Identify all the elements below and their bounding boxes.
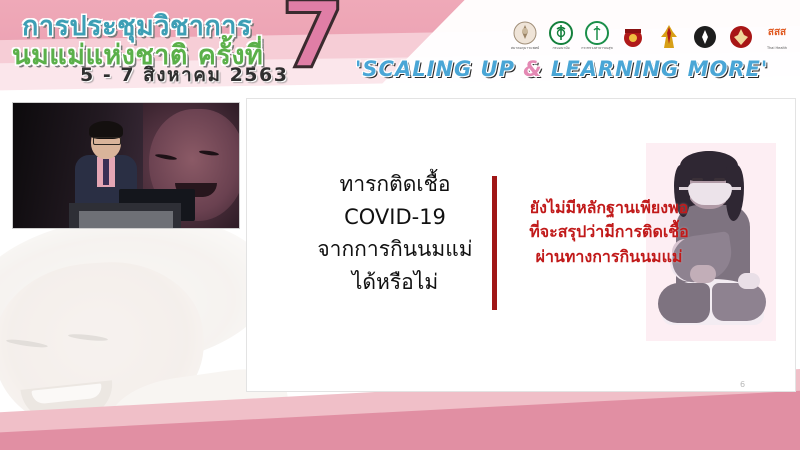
logo-sublabel: Thai Health <box>767 47 787 51</box>
logo-ministry-public-health-green-icon <box>548 20 574 46</box>
mother-eye-left <box>692 178 703 181</box>
logo-item: กระทรวงสาธารณสุข <box>582 20 612 51</box>
logo-item: สสส Thai Health <box>762 20 792 51</box>
conference-slogan: 'SCALING UP & LEARNING MORE' <box>355 57 768 81</box>
speaker-glasses <box>93 137 121 145</box>
logo-red-wheel-emblem-icon <box>620 24 646 50</box>
logo-row: สมาคมกุมารแพทย์ กรมอนามัย กระทรวงสาธารณส… <box>510 20 792 51</box>
logo-royal-emblem-icon <box>512 20 538 46</box>
question-line-3: จากการกินนมแม่ <box>300 233 490 266</box>
mask-strap-right <box>731 187 741 190</box>
question-text: ทารกติดเชื้อ COVID-19 จากการกินนมแม่ ได้… <box>300 168 490 298</box>
answer-text: ยังไม่มีหลักฐานเพียงพอ ที่จะสรุปว่ามีการ… <box>503 196 715 269</box>
podium-front-panel <box>79 211 173 228</box>
logo-item <box>726 24 756 51</box>
answer-line-2: ที่จะสรุปว่ามีการติดเชื้อ <box>503 220 715 244</box>
logo-caption: สมาคมกุมารแพทย์ <box>511 47 539 51</box>
logo-item <box>618 24 648 51</box>
thaihealth-wordmark: สสส <box>768 28 786 38</box>
logo-red-crown-emblem-icon <box>728 24 754 50</box>
logo-item <box>690 24 720 51</box>
page-number: 6 <box>740 380 745 389</box>
logo-black-circle-emblem-icon <box>692 24 718 50</box>
edition-number: 7 <box>281 0 345 82</box>
answer-line-1: ยังไม่มีหลักฐานเพียงพอ <box>503 196 715 220</box>
logo-caption: กระทรวงสาธารณสุข <box>581 47 613 51</box>
presentation-slide: ทารกติดเชื้อ COVID-19 จากการกินนมแม่ ได้… <box>0 0 800 450</box>
mother-leg-right <box>712 283 766 321</box>
vertical-divider <box>492 176 497 310</box>
slogan-ampersand: & <box>523 57 542 81</box>
mother-leg-left <box>658 283 710 323</box>
speaker-tie <box>103 159 109 185</box>
logo-item: สมาคมกุมารแพทย์ <box>510 20 540 51</box>
question-line-1: ทารกติดเชื้อ <box>300 168 490 201</box>
question-line-4: ได้หรือไม่ <box>300 266 490 299</box>
logo-item: กรมอนามัย <box>546 20 576 51</box>
logo-item <box>654 24 684 51</box>
mother-eye-right <box>714 178 725 181</box>
speaker-photo-inset <box>12 102 240 229</box>
logo-garuda-emblem-icon <box>656 24 682 50</box>
slogan-part-2: LEARNING MORE' <box>543 57 769 81</box>
logo-caption: กรมอนามัย <box>552 47 569 51</box>
logo-thaihealth-sss-icon: สสส <box>764 20 790 46</box>
mother-foot <box>738 273 760 289</box>
logo-department-health-green-icon <box>584 20 610 46</box>
conference-date: 5 - 7 สิงหาคม 2563 <box>80 60 288 90</box>
answer-line-3: ผ่านทางการกินนมแม่ <box>503 245 715 269</box>
conference-banner: สมาคมกุมารแพทย์ กรมอนามัย กระทรวงสาธารณส… <box>0 0 800 96</box>
question-line-2: COVID-19 <box>300 201 490 234</box>
slogan-part-1: 'SCALING UP <box>355 57 523 81</box>
